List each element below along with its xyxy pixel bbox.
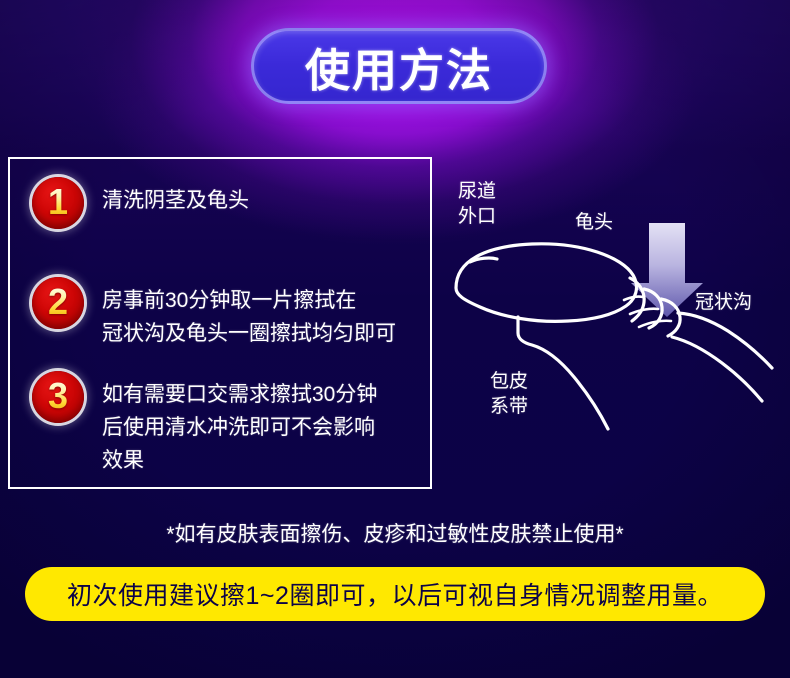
- step-number-label: 3: [48, 378, 68, 416]
- step-description: 房事前30分钟取一片擦拭在 冠状沟及龟头一圈擦拭均匀即可: [102, 277, 396, 350]
- step-number-badge: 3: [32, 371, 84, 423]
- step-number-label: 2: [48, 284, 68, 322]
- dosage-advice-banner: 初次使用建议擦1~2圈即可，以后可视自身情况调整用量。: [25, 567, 765, 621]
- page-title-banner: 使用方法: [251, 28, 547, 104]
- frenulum-line: [518, 317, 608, 429]
- label-urethral-opening: 尿道 外口: [458, 179, 496, 229]
- shaft-outline: [672, 313, 772, 401]
- step-description: 清洗阴茎及龟头: [102, 177, 249, 217]
- usage-instructions-poster: 使用方法 1 清洗阴茎及龟头 2 房事前30分钟取一片擦拭在 冠状沟及龟头一圈擦…: [0, 0, 790, 678]
- steps-list: 1 清洗阴茎及龟头 2 房事前30分钟取一片擦拭在 冠状沟及龟头一圈擦拭均匀即可…: [10, 159, 430, 487]
- step-number-label: 1: [48, 184, 68, 222]
- page-title: 使用方法: [251, 28, 547, 104]
- label-glans: 龟头: [575, 210, 613, 235]
- step-number-badge: 1: [32, 177, 84, 229]
- step-description: 如有需要口交需求擦拭30分钟 后使用清水冲洗即可不会影响 效果: [102, 371, 377, 477]
- warning-text: *如有皮肤表面擦伤、皮疹和过敏性皮肤禁止使用*: [0, 518, 790, 548]
- list-item: 2 房事前30分钟取一片擦拭在 冠状沟及龟头一圈擦拭均匀即可: [32, 277, 396, 350]
- down-arrow-icon: [631, 223, 703, 317]
- glans-outline: [456, 244, 637, 322]
- list-item: 3 如有需要口交需求擦拭30分钟 后使用清水冲洗即可不会影响 效果: [32, 371, 377, 477]
- steps-panel: 1 清洗阴茎及龟头 2 房事前30分钟取一片擦拭在 冠状沟及龟头一圈擦拭均匀即可…: [8, 157, 432, 489]
- label-corona: 冠状沟: [695, 290, 752, 315]
- list-item: 1 清洗阴茎及龟头: [32, 177, 249, 229]
- step-number-badge: 2: [32, 277, 84, 329]
- anatomy-diagram: 尿道 外口 龟头 冠状沟 包皮 系带: [440, 165, 790, 435]
- label-frenulum: 包皮 系带: [490, 369, 528, 419]
- dosage-advice-text: 初次使用建议擦1~2圈即可，以后可视自身情况调整用量。: [67, 576, 723, 612]
